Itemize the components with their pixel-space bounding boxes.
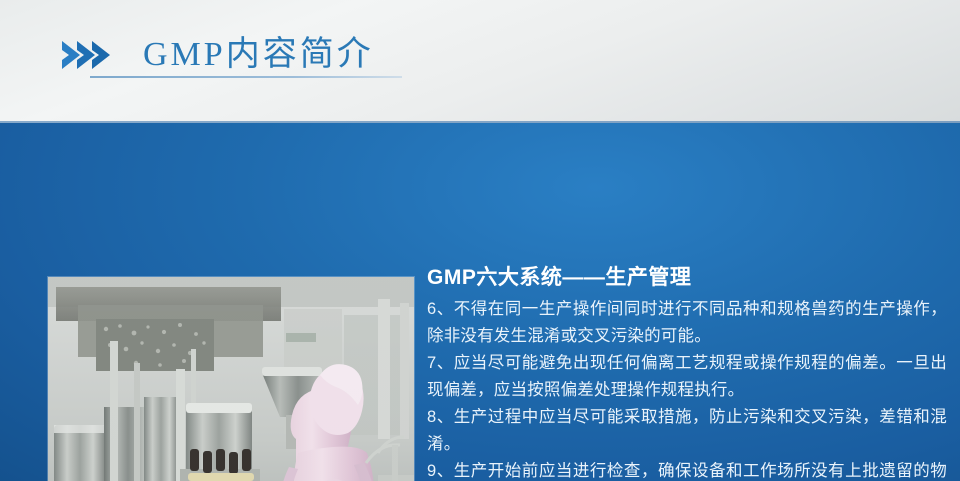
content-paragraph: 8、生产过程中应当尽可能采取措施，防止污染和交叉污染，差错和混淆。	[427, 404, 947, 458]
page-title: GMP内容简介	[143, 26, 374, 75]
slide-root: GMP内容简介	[0, 0, 960, 481]
title-underline	[90, 76, 402, 78]
content-paragraph: 6、不得在同一生产操作间同时进行不同品种和规格兽药的生产操作，除非没有发生混淆或…	[427, 296, 947, 350]
content-panel: GMP六大系统——生产管理 6、不得在同一生产操作间同时进行不同品种和规格兽药的…	[0, 123, 960, 481]
content-text-block: GMP六大系统——生产管理 6、不得在同一生产操作间同时进行不同品种和规格兽药的…	[427, 263, 947, 481]
production-line-photo	[48, 277, 414, 481]
content-paragraph: 9、生产开始前应当进行检查，确保设备和工作场所没有上批遗留的物料、产品，设备处于…	[427, 458, 947, 481]
content-heading: GMP六大系统——生产管理	[427, 263, 947, 293]
double-chevron-right-icon	[60, 38, 116, 72]
slide-header: GMP内容简介	[0, 0, 960, 123]
content-paragraph: 7、应当尽可能避免出现任何偏离工艺规程或操作规程的偏差。一旦出现偏差，应当按照偏…	[427, 350, 947, 404]
